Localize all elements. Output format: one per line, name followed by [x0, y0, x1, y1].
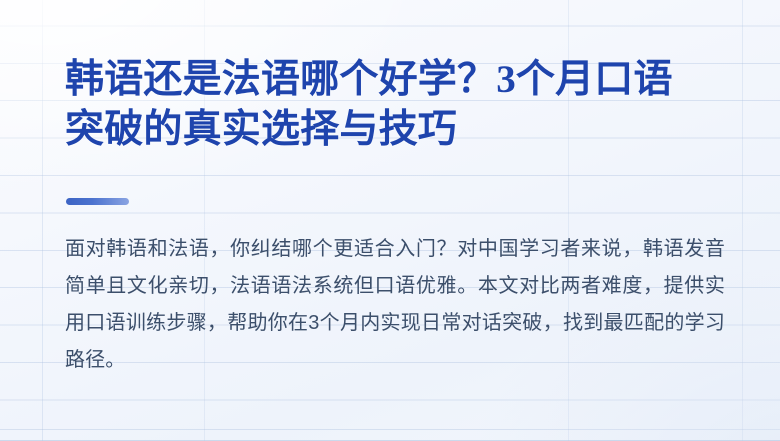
section-divider — [66, 198, 129, 205]
article-cover-card: 韩语还是法语哪个好学？3个月口语 突破的真实选择与技巧 面对韩语和法语，你纠结哪… — [0, 0, 780, 441]
content-area: 韩语还是法语哪个好学？3个月口语 突破的真实选择与技巧 面对韩语和法语，你纠结哪… — [65, 0, 725, 441]
article-summary: 面对韩语和法语，你纠结哪个更适合入门？对中国学习者来说，韩语发音简单且文化亲切，… — [65, 231, 725, 379]
page-title: 韩语还是法语哪个好学？3个月口语 突破的真实选择与技巧 — [65, 55, 725, 155]
